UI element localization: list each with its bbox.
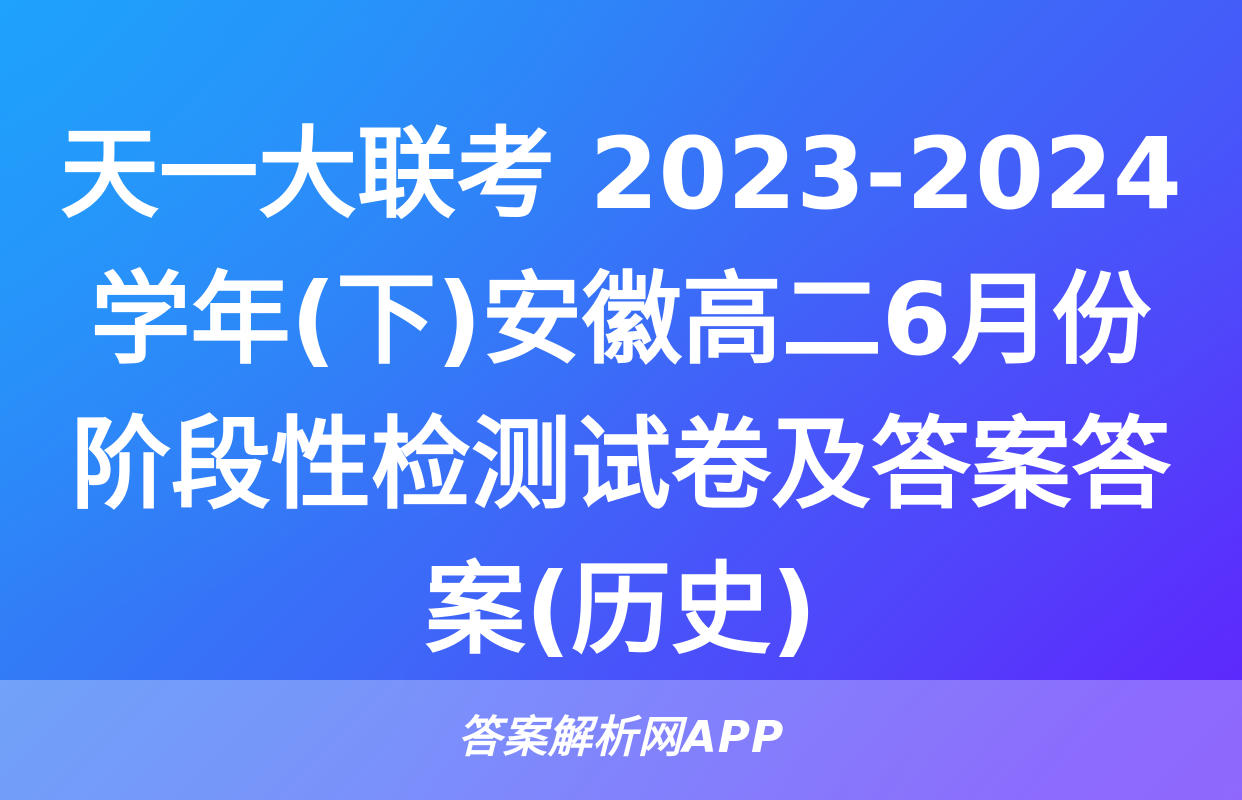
- title-line-1: 天一大联考 2023-2024: [60, 102, 1182, 247]
- footer-brand-label: 答案解析网APP: [458, 716, 785, 760]
- footer-brand-band: 答案解析网APP: [0, 680, 1242, 800]
- title-line-2: 学年(下)安徽高二6月份: [91, 247, 1152, 392]
- poster-canvas: 天一大联考 2023-2024 学年(下)安徽高二6月份 阶段性检测试卷及答案答…: [0, 0, 1242, 800]
- title-line-4: 案(历史): [425, 537, 816, 682]
- title-line-3: 阶段性检测试卷及答案答: [71, 392, 1171, 537]
- poster-title-block: 天一大联考 2023-2024 学年(下)安徽高二6月份 阶段性检测试卷及答案答…: [58, 104, 1184, 680]
